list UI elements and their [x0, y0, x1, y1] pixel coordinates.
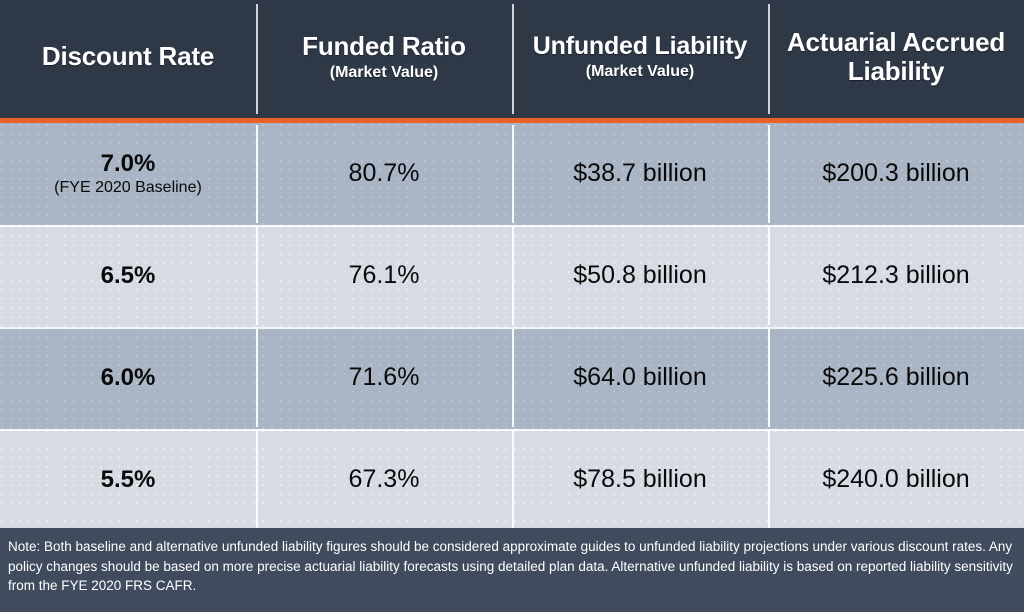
table-body: 7.0% (FYE 2020 Baseline) 80.7% $38.7 bil…	[0, 123, 1024, 531]
cell-discount-rate: 7.0% (FYE 2020 Baseline)	[0, 123, 256, 225]
cell-value: 6.5%	[101, 263, 156, 289]
cell-value: 5.5%	[101, 467, 156, 493]
cell-value: $78.5 billion	[573, 466, 706, 494]
cell-value: $38.7 billion	[573, 160, 706, 188]
cell-unfunded-liability: $38.7 billion	[512, 123, 768, 225]
column-header-discount-rate: Discount Rate	[0, 0, 256, 118]
column-header-actuarial-accrued-liability: Actuarial Accrued Liability	[768, 0, 1024, 118]
table-row: 6.5% 76.1% $50.8 billion $212.3 billion	[0, 225, 1024, 327]
table-row: 7.0% (FYE 2020 Baseline) 80.7% $38.7 bil…	[0, 123, 1024, 225]
cell-actuarial-accrued-liability: $240.0 billion	[768, 429, 1024, 531]
column-header-unfunded-liability: Unfunded Liability (Market Value)	[512, 0, 768, 118]
column-header-title: Unfunded Liability	[533, 32, 747, 60]
cell-value: 7.0%	[101, 151, 156, 177]
cell-value: $200.3 billion	[822, 160, 969, 188]
cell-funded-ratio: 71.6%	[256, 327, 512, 429]
cell-note: (FYE 2020 Baseline)	[54, 179, 202, 197]
column-header-title: Funded Ratio	[302, 32, 466, 61]
column-header-subtitle: (Market Value)	[330, 64, 438, 82]
column-header-funded-ratio: Funded Ratio (Market Value)	[256, 0, 512, 118]
cell-funded-ratio: 67.3%	[256, 429, 512, 531]
cell-discount-rate: 5.5%	[0, 429, 256, 531]
table-row: 5.5% 67.3% $78.5 billion $240.0 billion	[0, 429, 1024, 531]
cell-value: $64.0 billion	[573, 364, 706, 392]
column-header-title: Actuarial Accrued Liability	[774, 28, 1018, 86]
cell-unfunded-liability: $78.5 billion	[512, 429, 768, 531]
cell-value: 67.3%	[349, 466, 420, 494]
cell-discount-rate: 6.0%	[0, 327, 256, 429]
cell-value: 80.7%	[349, 160, 420, 188]
cell-value: 76.1%	[349, 262, 420, 290]
column-header-title: Discount Rate	[42, 42, 214, 71]
cell-discount-rate: 6.5%	[0, 225, 256, 327]
table-footnote: Note: Both baseline and alternative unfu…	[0, 528, 1024, 612]
table-row: 6.0% 71.6% $64.0 billion $225.6 billion	[0, 327, 1024, 429]
cell-actuarial-accrued-liability: $212.3 billion	[768, 225, 1024, 327]
cell-funded-ratio: 80.7%	[256, 123, 512, 225]
cell-value: $240.0 billion	[822, 466, 969, 494]
cell-unfunded-liability: $50.8 billion	[512, 225, 768, 327]
cell-value: $225.6 billion	[822, 364, 969, 392]
discount-rate-sensitivity-table: Discount Rate Funded Ratio (Market Value…	[0, 0, 1024, 612]
cell-value: $50.8 billion	[573, 262, 706, 290]
cell-unfunded-liability: $64.0 billion	[512, 327, 768, 429]
cell-value: 71.6%	[349, 364, 420, 392]
cell-funded-ratio: 76.1%	[256, 225, 512, 327]
cell-actuarial-accrued-liability: $225.6 billion	[768, 327, 1024, 429]
cell-value: $212.3 billion	[822, 262, 969, 290]
table-header-row: Discount Rate Funded Ratio (Market Value…	[0, 0, 1024, 118]
column-header-subtitle: (Market Value)	[586, 63, 694, 81]
cell-actuarial-accrued-liability: $200.3 billion	[768, 123, 1024, 225]
cell-value: 6.0%	[101, 365, 156, 391]
